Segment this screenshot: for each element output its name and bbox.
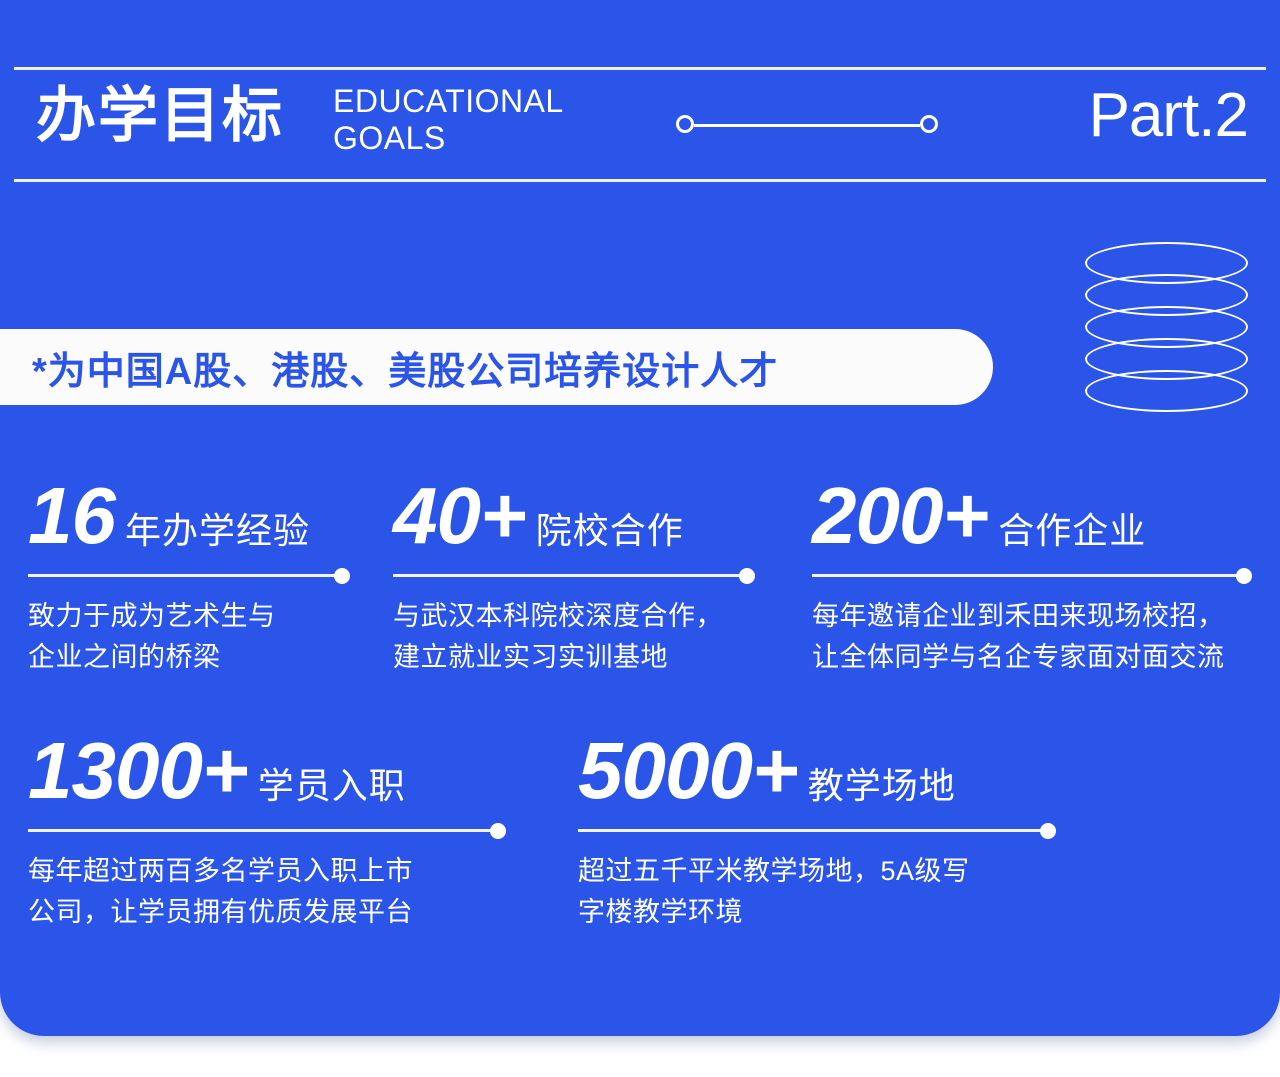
stat-unit: 合作企业	[998, 485, 1146, 577]
stat-number: 1300+	[28, 725, 248, 817]
stat-underline	[812, 568, 1252, 584]
stat-item: 40+ 院校合作 与武汉本科院校深度合作， 建立就业实习实训基地	[393, 470, 755, 678]
page-subtitle: EDUCATIONAL GOALS	[333, 83, 564, 157]
stat-underline	[28, 823, 506, 839]
stat-item: 5000+ 教学场地 超过五千平米教学场地，5A级写 字楼教学环境	[578, 725, 1056, 933]
stat-unit: 年办学经验	[125, 485, 310, 577]
highlight-banner: *为中国A股、港股、美股公司培养设计人才	[0, 329, 993, 405]
stat-item: 200+ 合作企业 每年邀请企业到禾田来现场校招， 让全体同学与名企专家面对面交…	[812, 470, 1252, 678]
stat-underline	[393, 568, 755, 584]
stat-number: 5000+	[578, 725, 798, 817]
stats-row: 16 年办学经验 致力于成为艺术生与 企业之间的桥梁 40+ 院校合作	[0, 470, 1280, 725]
stats-row: 1300+ 学员入职 每年超过两百多名学员入职上市 公司，让学员拥有优质发展平台…	[0, 725, 1280, 975]
poster-canvas: 办学目标 EDUCATIONAL GOALS Part.2 *为中国A股、港股、…	[0, 0, 1280, 1077]
stat-description: 致力于成为艺术生与 企业之间的桥梁	[28, 596, 350, 678]
stat-headline: 5000+ 教学场地	[578, 725, 1056, 817]
stat-underline-line	[28, 574, 340, 577]
dumbbell-divider-icon	[676, 115, 938, 137]
dumbbell-right-circle-icon	[920, 115, 938, 133]
stat-description: 每年邀请企业到禾田来现场校招， 让全体同学与名企专家面对面交流	[812, 596, 1252, 678]
stat-underline-dot-icon	[739, 568, 755, 584]
stats-section: 16 年办学经验 致力于成为艺术生与 企业之间的桥梁 40+ 院校合作	[0, 470, 1280, 975]
stat-number: 40+	[393, 470, 526, 562]
coil-ring	[1085, 370, 1248, 412]
stat-description: 超过五千平米教学场地，5A级写 字楼教学环境	[578, 851, 1056, 933]
stat-underline-dot-icon	[1236, 568, 1252, 584]
page-title: 办学目标	[36, 79, 284, 153]
stat-headline: 16 年办学经验	[28, 470, 350, 562]
stat-number: 200+	[812, 470, 988, 562]
stat-description: 每年超过两百多名学员入职上市 公司，让学员拥有优质发展平台	[28, 851, 506, 933]
stat-underline-line	[812, 574, 1242, 577]
stat-item: 16 年办学经验 致力于成为艺术生与 企业之间的桥梁	[28, 470, 350, 678]
stat-item: 1300+ 学员入职 每年超过两百多名学员入职上市 公司，让学员拥有优质发展平台	[28, 725, 506, 933]
stat-headline: 1300+ 学员入职	[28, 725, 506, 817]
stat-underline-line	[578, 829, 1046, 832]
stat-unit: 院校合作	[536, 485, 684, 577]
stat-unit: 学员入职	[258, 740, 406, 832]
stat-unit: 教学场地	[808, 740, 956, 832]
dumbbell-bar	[694, 124, 920, 127]
stat-underline-dot-icon	[490, 823, 506, 839]
stat-underline-dot-icon	[334, 568, 350, 584]
stat-underline-line	[28, 829, 496, 832]
stat-headline: 40+ 院校合作	[393, 470, 755, 562]
stat-number: 16	[28, 470, 115, 562]
stat-headline: 200+ 合作企业	[812, 470, 1252, 562]
stat-description: 与武汉本科院校深度合作， 建立就业实习实训基地	[393, 596, 755, 678]
stat-underline	[28, 568, 350, 584]
stat-underline	[578, 823, 1056, 839]
part-number-label: Part.2	[1089, 78, 1248, 154]
header: 办学目标 EDUCATIONAL GOALS Part.2	[0, 67, 1280, 182]
stat-underline-line	[393, 574, 745, 577]
stat-underline-dot-icon	[1040, 823, 1056, 839]
blue-content-card: 办学目标 EDUCATIONAL GOALS Part.2 *为中国A股、港股、…	[0, 0, 1280, 1036]
dumbbell-left-circle-icon	[676, 115, 694, 133]
highlight-banner-text: *为中国A股、港股、美股公司培养设计人才	[32, 340, 778, 395]
coil-decoration-icon	[1085, 242, 1260, 412]
